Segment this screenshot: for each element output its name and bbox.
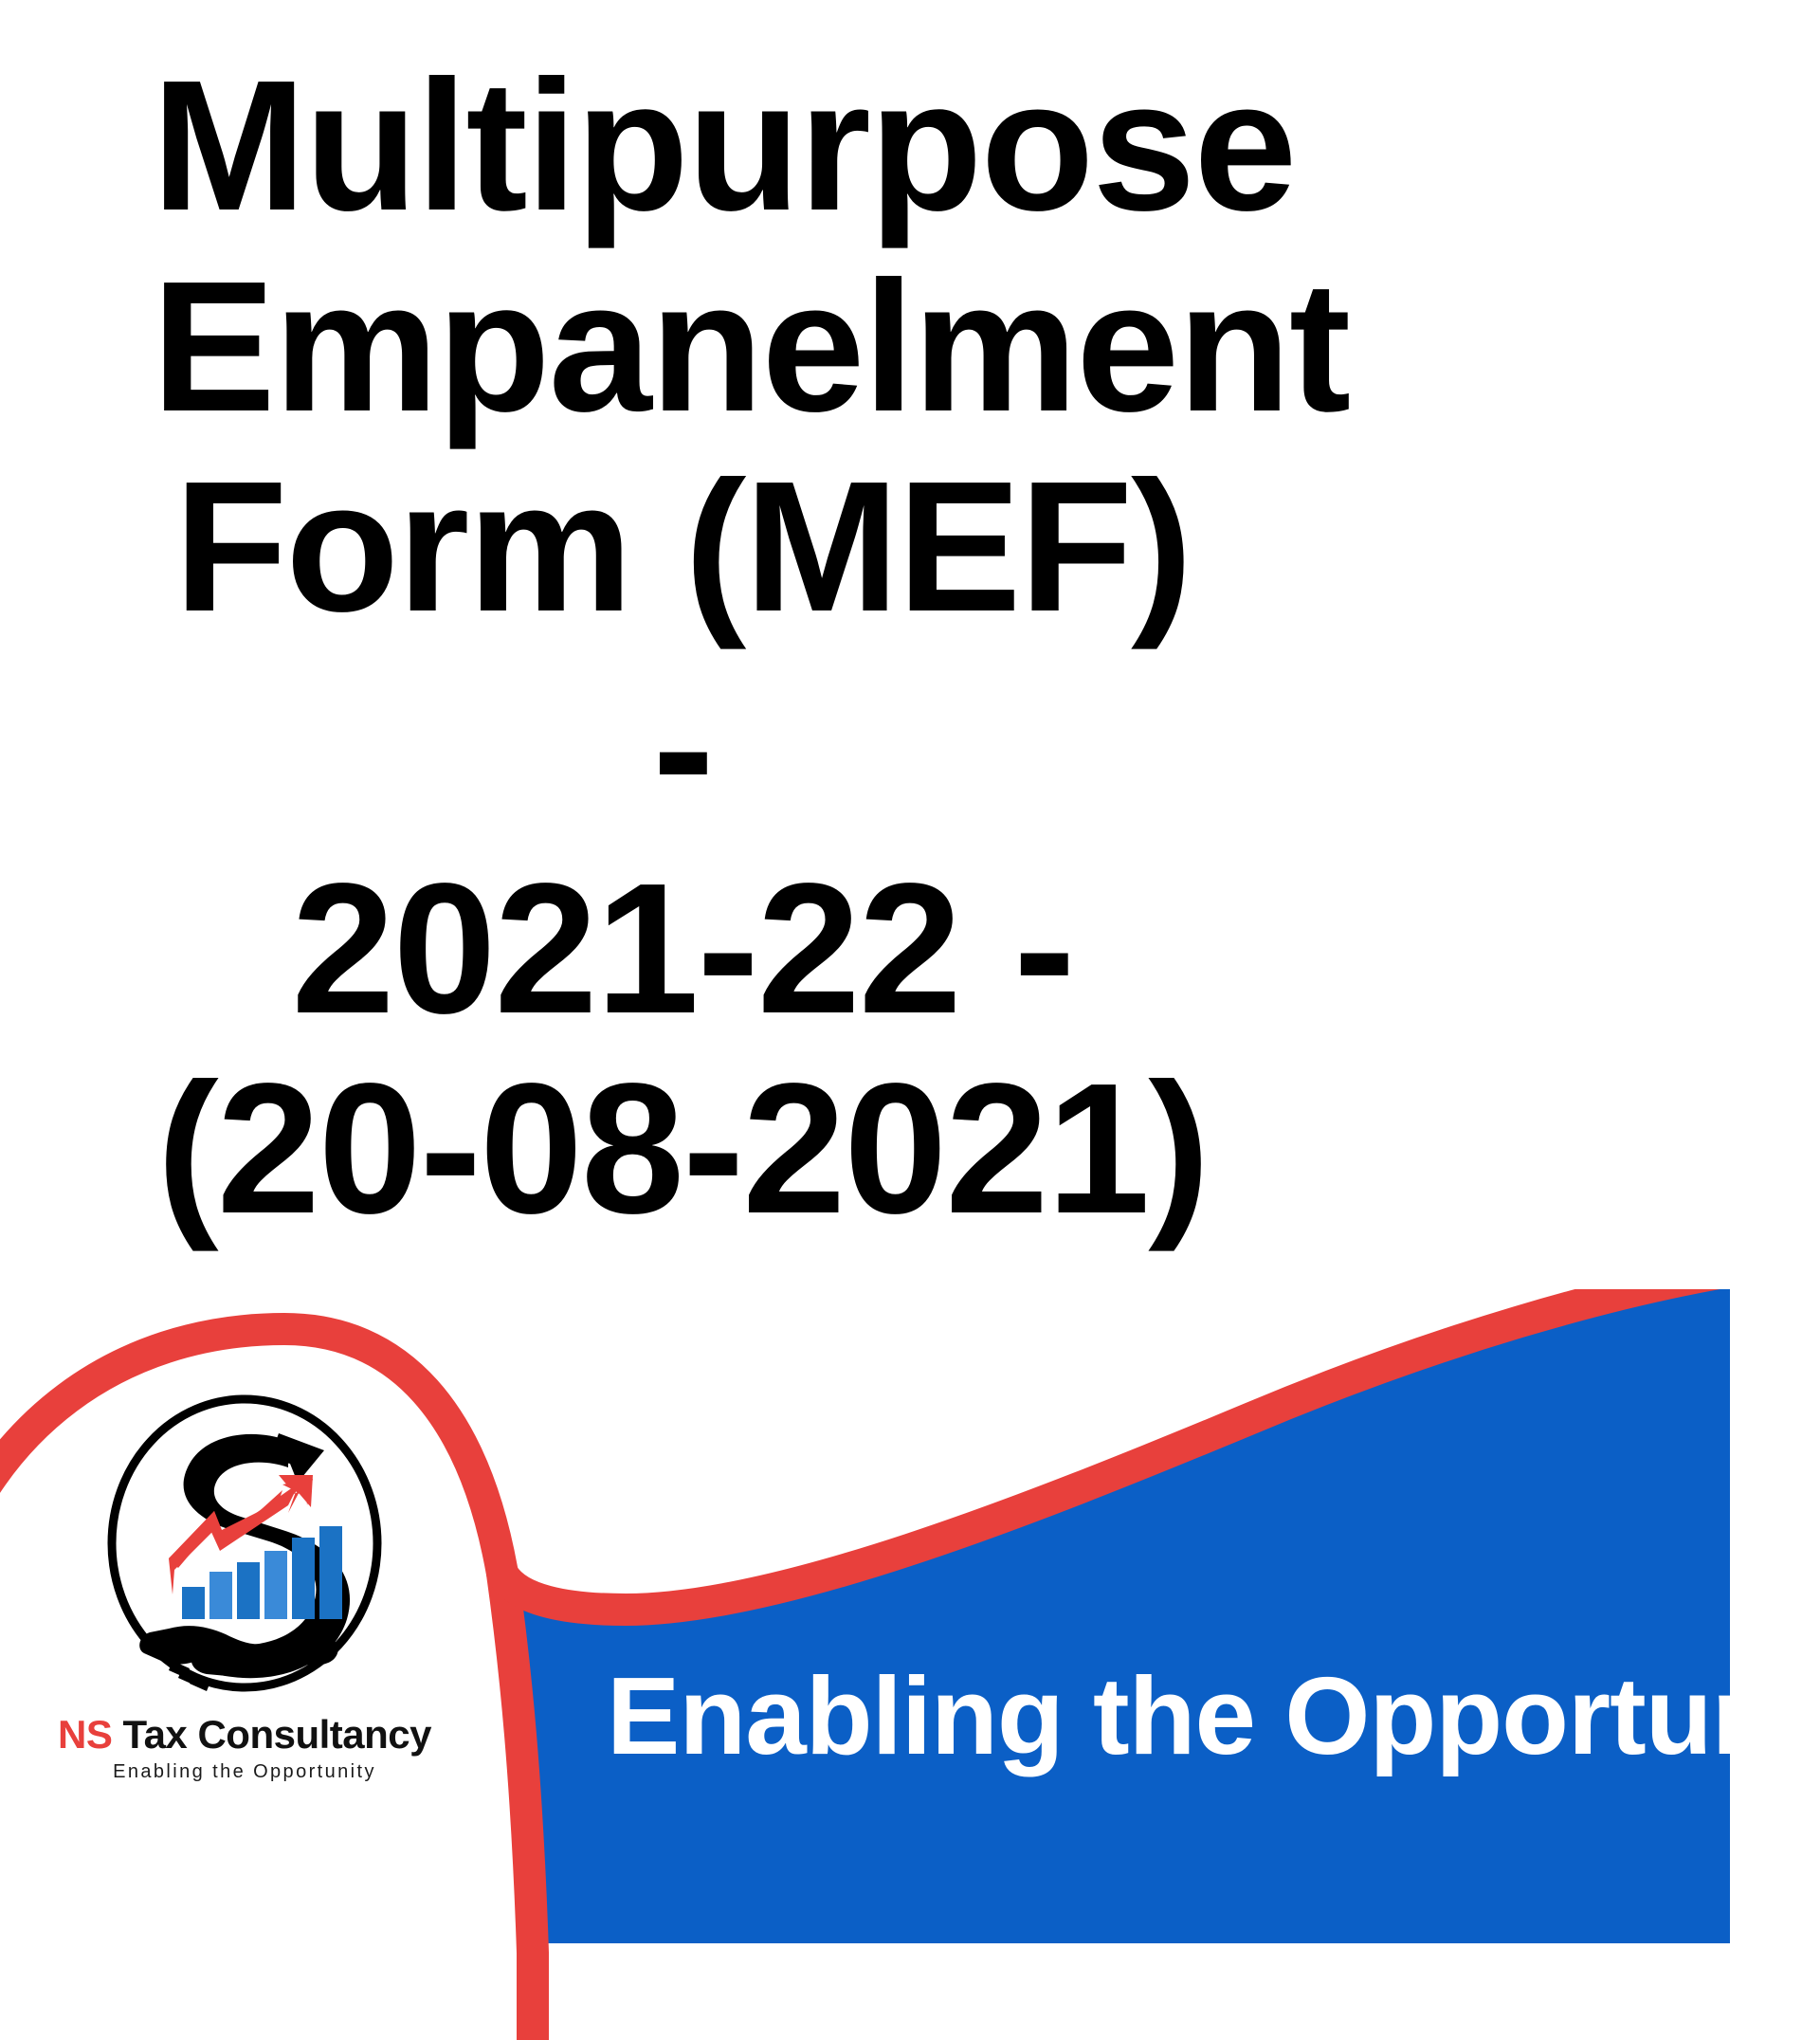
logo-mark <box>102 1392 387 1704</box>
page-title: Multipurpose Empanelment Form (MEF) - 20… <box>152 46 1213 1249</box>
title-block: Multipurpose Empanelment Form (MEF) - 20… <box>152 46 1213 1249</box>
logo-tagline: Enabling the Opportunity <box>45 1761 444 1783</box>
logo-wordmark: NS Tax Consultancy <box>45 1712 444 1758</box>
logo-wordmark-ns: NS <box>58 1712 112 1757</box>
poster-canvas: Multipurpose Empanelment Form (MEF) - 20… <box>0 0 1820 2040</box>
logo-wordmark-rest: Tax Consultancy <box>112 1712 431 1757</box>
logo-lockup: NS Tax Consultancy Enabling the Opportun… <box>45 1392 444 1783</box>
